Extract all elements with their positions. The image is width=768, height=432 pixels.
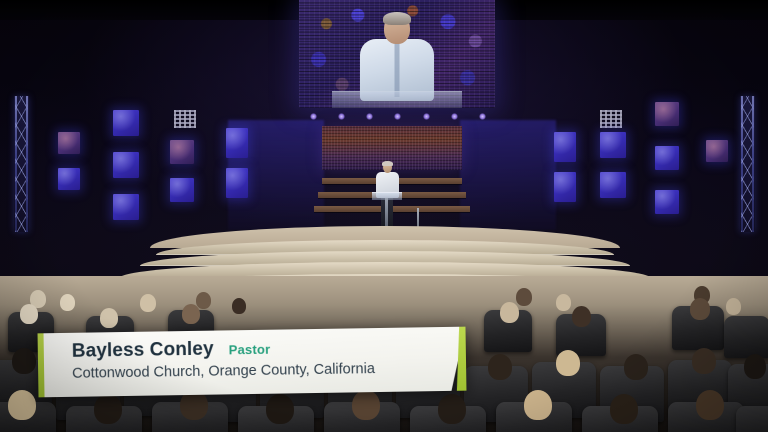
audience-head <box>556 294 571 311</box>
led-panel-icon <box>226 168 248 198</box>
stage-light-icon <box>366 113 373 120</box>
led-panel-icon <box>706 140 728 162</box>
led-panel-icon <box>113 194 139 220</box>
broadcast-frame: Bayless Conley Pastor Cottonwood Church,… <box>0 0 768 432</box>
audience-seat <box>724 316 768 358</box>
audience-head <box>726 298 741 315</box>
audience-head <box>692 348 716 374</box>
screen-speaker-hair <box>383 12 411 25</box>
led-panel-icon <box>113 110 139 136</box>
led-panel-icon <box>554 172 576 202</box>
audience-head <box>516 288 532 306</box>
lighting-truss-icon <box>14 96 29 232</box>
led-panel-icon <box>58 168 80 190</box>
audience-head <box>196 292 211 309</box>
stage-light-icon <box>394 113 401 120</box>
lower-third-accent-bar-left <box>38 333 45 397</box>
stage-light-icon <box>338 113 345 120</box>
led-panel-icon <box>554 132 576 162</box>
audience-head <box>182 304 200 324</box>
audience-head <box>744 354 766 379</box>
audience-head <box>60 294 75 311</box>
stage-light-icon <box>479 113 486 120</box>
audience-head <box>232 298 246 314</box>
led-panel-icon <box>655 102 679 126</box>
audience-seat <box>736 406 768 432</box>
screen-podium <box>332 91 462 108</box>
audience-head <box>690 298 710 320</box>
led-panel-icon <box>600 172 626 198</box>
lower-third-banner: Bayless Conley Pastor Cottonwood Church,… <box>38 327 467 398</box>
stage-light-icon <box>451 113 458 120</box>
stage-light-icon <box>423 113 430 120</box>
audience-head <box>488 354 512 380</box>
audience-head <box>696 390 724 420</box>
led-panel-icon <box>600 132 626 158</box>
led-panel-icon <box>226 128 248 158</box>
stage-light-icon <box>310 113 317 120</box>
audience-head <box>624 354 648 380</box>
led-panel-icon <box>113 152 139 178</box>
audience-head <box>20 304 38 324</box>
audience-head <box>556 350 580 376</box>
audience-head <box>610 394 638 424</box>
led-panel-icon <box>170 140 194 164</box>
led-grid-icon <box>600 110 622 128</box>
lower-third-content: Bayless Conley Pastor Cottonwood Church,… <box>72 335 427 383</box>
speaker-name: Bayless Conley <box>72 339 214 363</box>
audience-head <box>352 390 380 420</box>
speaker-role: Pastor <box>229 342 271 358</box>
audience-head <box>500 302 519 323</box>
audience-head <box>438 394 466 424</box>
led-panel-icon <box>58 132 80 154</box>
stage-wash-right <box>460 120 556 230</box>
audience-head <box>8 390 36 420</box>
speaker-hair <box>382 161 393 166</box>
audience-head <box>94 394 122 424</box>
stage-light-row <box>310 112 486 120</box>
audience-head <box>12 348 36 374</box>
lighting-truss-icon <box>740 96 755 232</box>
audience-head <box>572 306 591 327</box>
audience-head <box>266 394 294 424</box>
led-panel-icon <box>170 178 194 202</box>
audience-head <box>100 308 118 328</box>
audience-head <box>140 294 156 312</box>
led-panel-icon <box>655 190 679 214</box>
main-led-screen <box>299 0 495 108</box>
led-panel-icon <box>655 146 679 170</box>
audience-head <box>524 390 552 420</box>
lower-third-title-row: Bayless Conley Pastor <box>72 335 426 362</box>
led-grid-icon <box>174 110 196 128</box>
